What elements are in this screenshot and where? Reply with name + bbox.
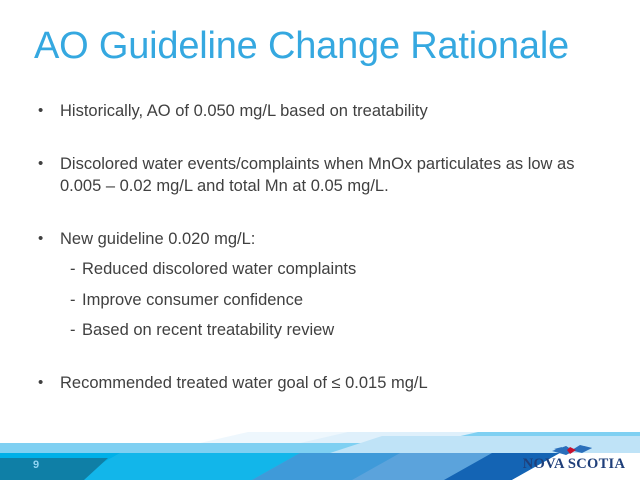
sub-bullet-text: Based on recent treatability review: [82, 321, 334, 339]
bullet-marker-icon: •: [38, 228, 43, 251]
bullet-text: New guideline 0.020 mg/L:: [60, 228, 610, 251]
nova-scotia-osprey-emblem: [552, 445, 592, 455]
spacer: [34, 123, 610, 153]
spacer: [34, 198, 610, 228]
bullet-marker-icon: •: [38, 100, 43, 123]
slide-body: • Historically, AO of 0.050 mg/L based o…: [34, 100, 610, 394]
bullet-item: • Historically, AO of 0.050 mg/L based o…: [34, 100, 610, 123]
slide: AO Guideline Change Rationale • Historic…: [0, 0, 640, 480]
bullet-item: • Discolored water events/complaints whe…: [34, 153, 610, 198]
bullet-text: Historically, AO of 0.050 mg/L based on …: [60, 100, 610, 123]
bullet-item: • New guideline 0.020 mg/L:: [34, 228, 610, 251]
bullet-text: Recommended treated water goal of ≤ 0.01…: [60, 372, 610, 395]
sub-bullet-text: Reduced discolored water complaints: [82, 260, 356, 278]
spacer: [34, 250, 610, 258]
spacer: [34, 281, 610, 289]
bullet-marker-icon: •: [38, 372, 43, 395]
bullet-text: Discolored water events/complaints when …: [60, 153, 610, 198]
dash-marker-icon: -: [70, 319, 76, 342]
sub-bullet-item: - Based on recent treatability review: [34, 319, 610, 342]
page-number: 9: [33, 459, 39, 471]
bullet-item: • Recommended treated water goal of ≤ 0.…: [34, 372, 610, 395]
bullet-marker-icon: •: [38, 153, 43, 176]
spacer: [34, 311, 610, 319]
sub-bullet-item: - Improve consumer confidence: [34, 289, 610, 312]
spacer: [34, 342, 610, 372]
dash-marker-icon: -: [70, 289, 76, 312]
sub-bullet-text: Improve consumer confidence: [82, 291, 303, 309]
page-title: AO Guideline Change Rationale: [34, 24, 614, 68]
dash-marker-icon: -: [70, 258, 76, 281]
logo-wordmark: NOVA SCOTIA: [523, 456, 626, 472]
nova-scotia-logo: NOVA SCOTIA: [522, 437, 626, 475]
sub-bullet-item: - Reduced discolored water complaints: [34, 258, 610, 281]
